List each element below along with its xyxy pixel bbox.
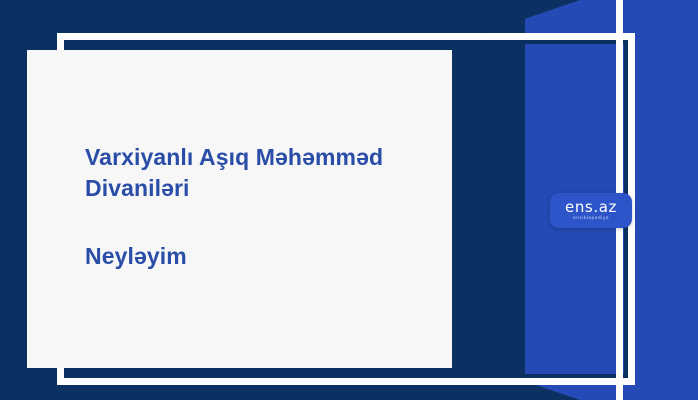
card-text-block: Varxiyanlı Aşıq Məhəmməd Divaniləri Neyl… <box>85 142 485 272</box>
logo-wordmark: ens.az <box>565 200 617 215</box>
slide-subtitle: Neyləyim <box>85 241 485 272</box>
content-card: Varxiyanlı Aşıq Məhəmməd Divaniləri Neyl… <box>27 50 452 368</box>
ensaz-logo-badge[interactable]: ens.az ensiklopediya <box>550 193 632 228</box>
slide-canvas: Varxiyanlı Aşıq Məhəmməd Divaniləri Neyl… <box>0 0 698 400</box>
logo-tagline: ensiklopediya <box>573 217 609 221</box>
slide-title: Varxiyanlı Aşıq Məhəmməd Divaniləri <box>85 142 485 203</box>
